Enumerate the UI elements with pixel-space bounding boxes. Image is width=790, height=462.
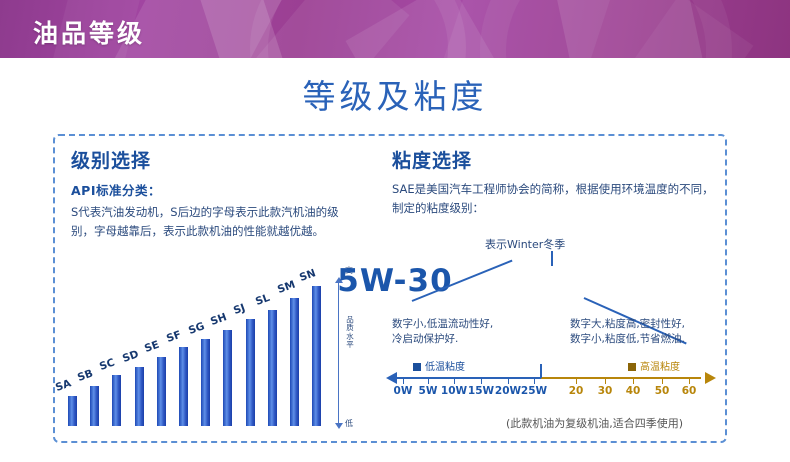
- winter-annotation: 表示Winter冬季: [485, 236, 565, 252]
- chart-bar-label: SH: [209, 311, 228, 328]
- sae-description: SAE是美国汽车工程师协会的简称，根据使用环境温度的不同，制定的粘度级别：: [392, 180, 714, 217]
- chart-bar-label: SF: [165, 329, 183, 345]
- scale-tick-label: 5W: [419, 385, 438, 397]
- axis-label-quality-level: 品质水平: [345, 316, 355, 350]
- chart-bar: [246, 319, 255, 426]
- scale-tick: [481, 378, 482, 384]
- chart-bar-label: SD: [120, 348, 139, 365]
- grade-selection-section: 级别选择 API标准分类： S代表汽油发动机，S后边的字母表示此款汽机油的级别，…: [71, 146, 356, 240]
- scale-tick-label: 15W: [468, 385, 494, 397]
- cold-note-line-1: 数字小,低温流动性好,: [392, 317, 493, 332]
- footnote-caption: (此款机油为复级机油,适合四季使用): [506, 415, 683, 431]
- grade-selection-body: S代表汽油发动机，S后边的字母表示此款汽机油的级别，字母越靠后，表示此款机油的性…: [71, 203, 356, 240]
- chart-bar-label: SE: [143, 339, 161, 355]
- chart-bar: [90, 386, 99, 426]
- legend-hot-viscosity: 高温粘度: [628, 358, 680, 373]
- chart-bar: [290, 298, 299, 426]
- chart-bar: [68, 396, 77, 426]
- grade-selection-heading: 级别选择: [71, 146, 356, 173]
- scale-tick-label: 25W: [521, 385, 547, 397]
- page-title: 等级及粘度: [0, 70, 790, 118]
- scale-tick: [605, 378, 606, 384]
- chart-vertical-axis: [338, 282, 339, 424]
- scale-tick: [689, 378, 690, 384]
- viscosity-selection-section: 粘度选择 SAE是美国汽车工程师协会的简称，根据使用环境温度的不同，制定的粘度级…: [392, 146, 714, 217]
- legend-swatch-icon: [413, 363, 421, 371]
- scale-tick: [576, 378, 577, 384]
- scale-tick-label: 50: [655, 385, 670, 397]
- hot-note-line-1: 数字大,粘度高,密封性好,: [570, 317, 685, 332]
- viscosity-grade-code: 5W-30: [0, 263, 790, 299]
- scale-tick: [508, 378, 509, 384]
- scale-tick-label: 20: [569, 385, 584, 397]
- chart-bar: [268, 310, 277, 426]
- cold-note-line-2: 冷启动保护好.: [392, 332, 493, 347]
- hot-note-line-2: 数字小,粘度低,节省燃油.: [570, 332, 685, 347]
- scale-tick: [534, 378, 535, 384]
- scale-tick: [454, 378, 455, 384]
- chart-bar-label: SC: [98, 356, 116, 373]
- chart-bar: [201, 339, 210, 426]
- scale-tick-label: 60: [682, 385, 697, 397]
- chart-bar: [223, 330, 232, 426]
- chart-bar-label: SB: [76, 367, 95, 384]
- scale-tick-label: 10W: [441, 385, 467, 397]
- banner-title: 油品等级: [33, 14, 145, 50]
- header-banner: 油品等级: [0, 0, 790, 58]
- scale-tick: [403, 378, 404, 384]
- scale-tick: [633, 378, 634, 384]
- scale-tick: [428, 378, 429, 384]
- chart-bar: [179, 347, 188, 426]
- viscosity-scale-axis: 0W5W10W15W20W25W2030405060: [386, 372, 716, 406]
- chart-bar: [312, 286, 321, 426]
- api-standard-subheading: API标准分类：: [71, 180, 356, 199]
- scale-tick: [662, 378, 663, 384]
- chart-bar-label: SG: [187, 320, 206, 337]
- chart-bar: [135, 367, 144, 426]
- scale-tick-label: 20W: [495, 385, 521, 397]
- scale-divider: [540, 364, 542, 378]
- viscosity-selection-heading: 粘度选择: [392, 146, 714, 173]
- scale-line-hot: [541, 377, 701, 379]
- scale-line-cold: [396, 377, 541, 379]
- hot-viscosity-note: 数字大,粘度高,密封性好, 数字小,粘度低,节省燃油.: [570, 317, 685, 347]
- legend-swatch-icon: [628, 363, 636, 371]
- chart-bar: [112, 375, 121, 426]
- chart-bar: [157, 357, 166, 426]
- scale-tick-label: 40: [626, 385, 641, 397]
- cold-viscosity-note: 数字小,低温流动性好, 冷启动保护好.: [392, 317, 493, 347]
- axis-label-low: 低: [345, 418, 353, 429]
- scale-tick-label: 0W: [394, 385, 413, 397]
- right-arrow-icon: [705, 372, 716, 384]
- scale-tick-label: 30: [598, 385, 613, 397]
- chart-bar-label: SJ: [231, 302, 246, 317]
- legend-cold-viscosity: 低温粘度: [413, 358, 465, 373]
